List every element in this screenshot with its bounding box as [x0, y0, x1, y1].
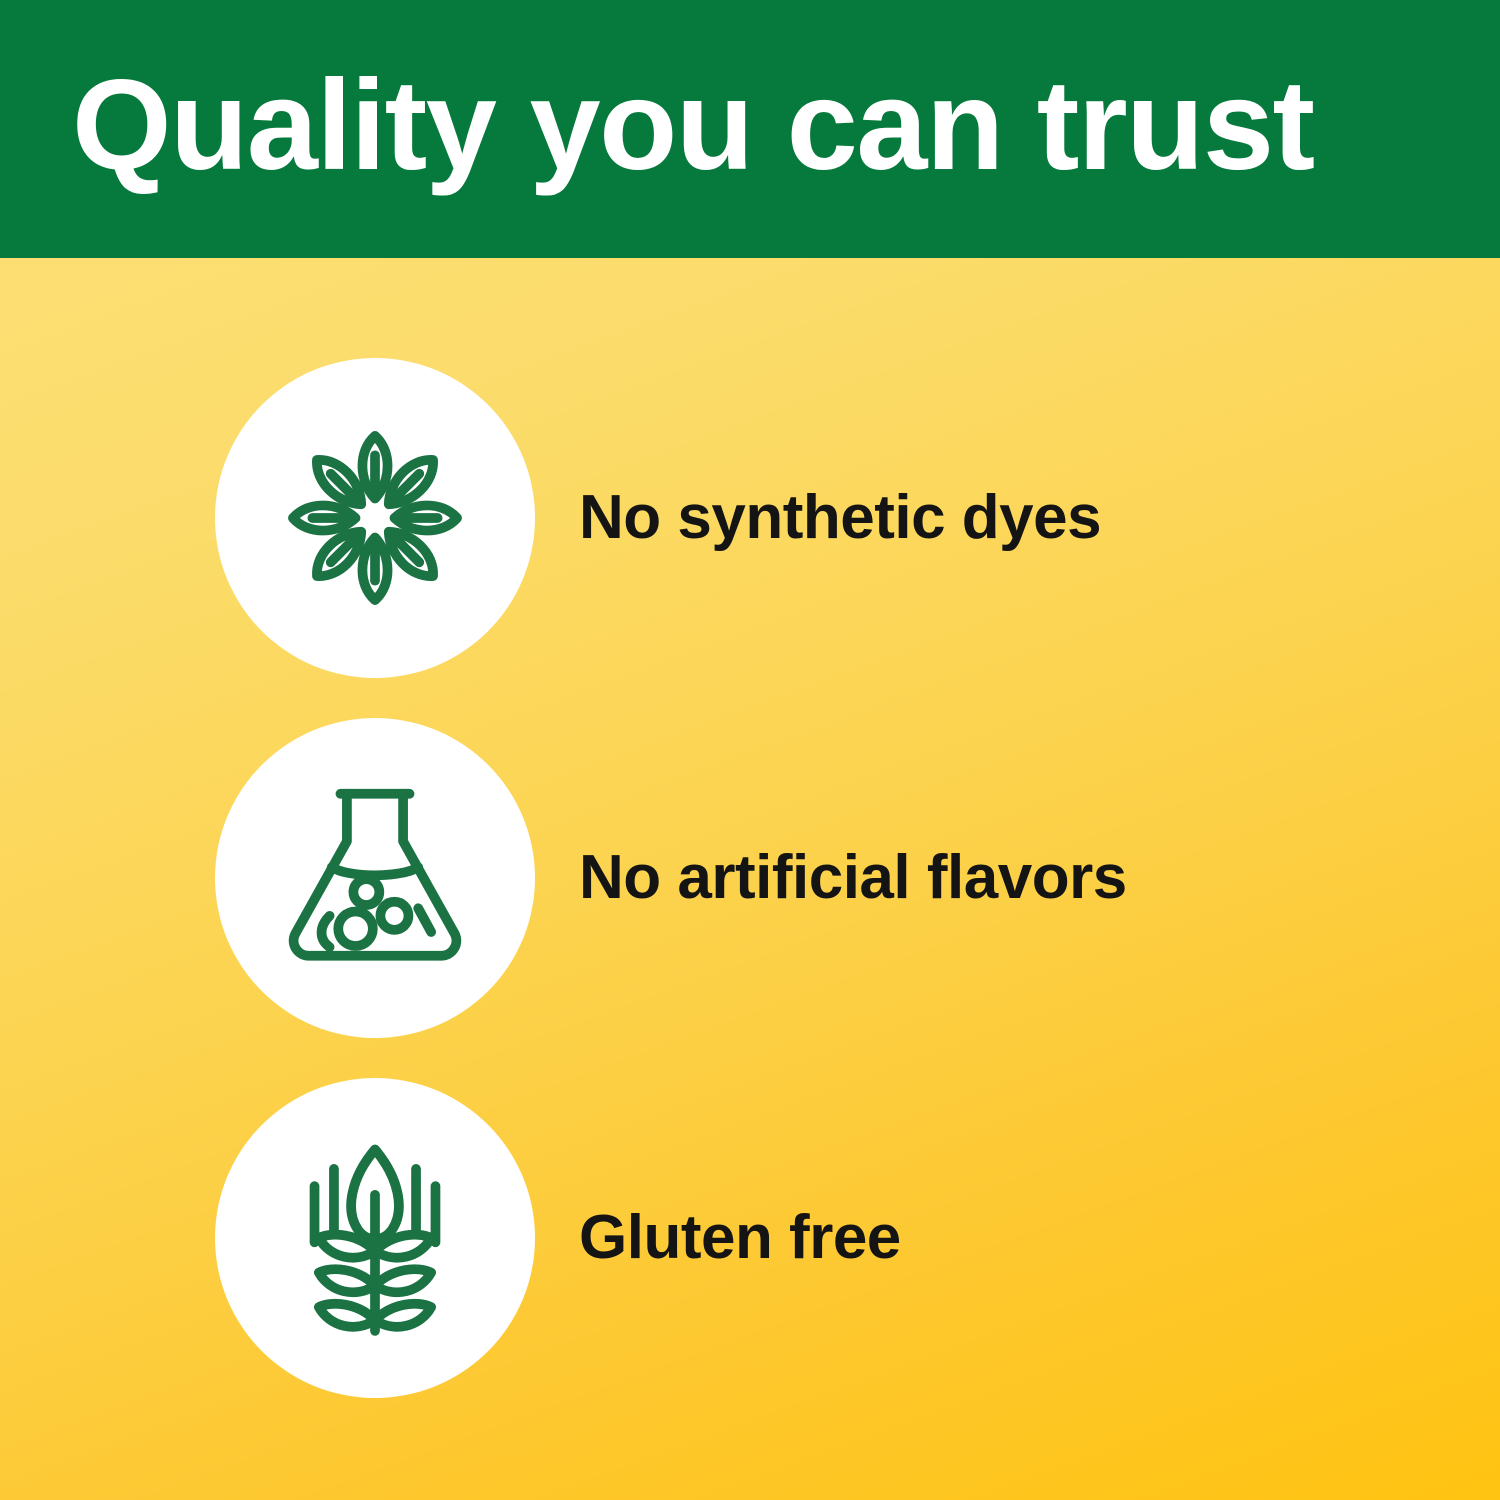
flower-petals-icon: [267, 410, 483, 626]
feature-row: No synthetic dyes: [0, 348, 1500, 688]
quality-badges-infographic: Quality you can trust: [0, 0, 1500, 1500]
page-title: Quality you can trust: [72, 60, 1462, 192]
wheat-stalk-icon: [267, 1130, 483, 1346]
feature-row: No artificial flavors: [0, 708, 1500, 1048]
icon-badge-no-synthetic-dyes: [215, 358, 535, 678]
feature-list: No synthetic dyes: [0, 258, 1500, 1500]
feature-label: Gluten free: [579, 1203, 901, 1273]
feature-row: Gluten free: [0, 1068, 1500, 1408]
icon-badge-gluten-free: [215, 1078, 535, 1398]
header-band: Quality you can trust: [0, 0, 1500, 258]
feature-label: No artificial flavors: [579, 843, 1127, 913]
feature-label: No synthetic dyes: [579, 483, 1101, 553]
erlenmeyer-flask-icon: [267, 770, 483, 986]
icon-badge-no-artificial-flavors: [215, 718, 535, 1038]
